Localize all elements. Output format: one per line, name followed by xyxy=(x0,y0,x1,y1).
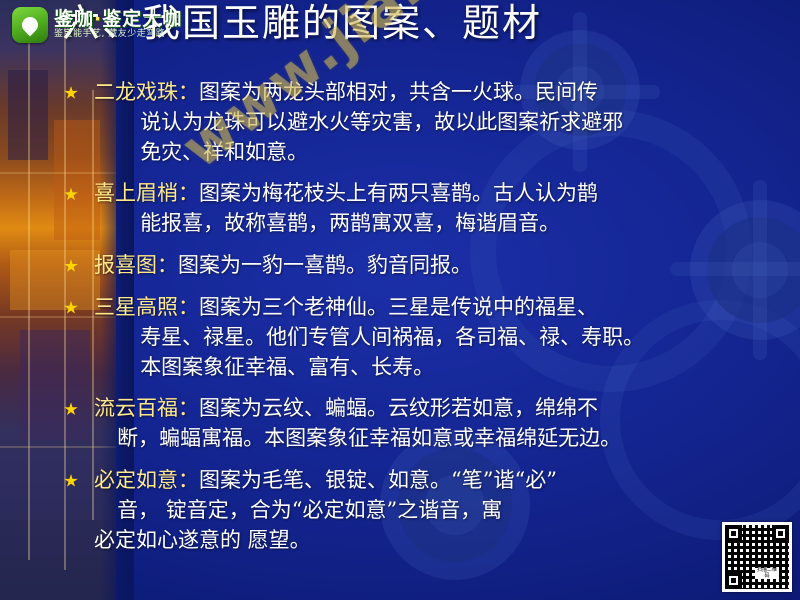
list-item-text: 图案为云纹、蝙蝠。云纹形若如意，绵绵不 xyxy=(199,396,598,420)
list-item-line: 断，蝙蝠寓福。本图案象征幸福如意或幸福绵延无边。 xyxy=(94,424,770,454)
logo-title-part2: 鉴定大咖 xyxy=(102,8,182,30)
list-item-line: 免灾、祥和如意。 xyxy=(94,138,770,168)
leaf-badge-icon xyxy=(12,7,48,43)
list-item-term: 二龙戏珠： xyxy=(94,80,199,104)
logo-subtitle: 鉴宝能手艺, 藏友少走弯路 xyxy=(54,30,182,39)
list-item: 二龙戏珠：图案为两龙头部相对，共含一火球。民间传 说认为龙珠可以避水火等灾害，故… xyxy=(60,78,770,167)
site-logo[interactable]: 鉴咖·鉴定大咖 鉴宝能手艺, 藏友少走弯路 xyxy=(12,6,262,44)
list-item-line: 必定如心遂意的 愿望。 xyxy=(94,526,770,556)
qr-code-image: 扫描二维码 xyxy=(725,525,789,589)
list-item-term: 报喜图： xyxy=(94,253,178,277)
list-item-line: 流云百福：图案为云纹、蝙蝠。云纹形若如意，绵绵不 xyxy=(94,394,770,424)
star-bullet-icon xyxy=(64,187,78,201)
list-item: 必定如意：图案为毛笔、银锭、如意。“笔”谐“必” 音， 锭音定，合为“必定如意”… xyxy=(60,466,770,555)
list-item-line: 二龙戏珠：图案为两龙头部相对，共含一火球。民间传 xyxy=(94,78,770,108)
star-bullet-icon xyxy=(64,301,78,315)
star-bullet-icon xyxy=(64,474,78,488)
logo-title-accent: · xyxy=(94,8,102,30)
list-item-text: 图案为梅花枝头上有两只喜鹊。古人认为鹊 xyxy=(199,181,598,205)
list-item-line: 报喜图：图案为一豹一喜鹊。豹音同报。 xyxy=(94,251,770,281)
leaf-glyph xyxy=(19,14,42,37)
list-item: 三星高照：图案为三个老神仙。三星是传说中的福星、 寿星、禄星。他们专管人间祸福，… xyxy=(60,293,770,382)
qr-eye xyxy=(725,525,742,542)
list-item-text: 图案为两龙头部相对，共含一火球。民间传 xyxy=(199,80,598,104)
list-item-text: 图案为一豹一喜鹊。豹音同报。 xyxy=(178,253,472,277)
list-item-line: 喜上眉梢：图案为梅花枝头上有两只喜鹊。古人认为鹊 xyxy=(94,179,770,209)
qr-code[interactable]: 扫描二维码 xyxy=(722,522,792,592)
logo-text-block: 鉴咖·鉴定大咖 鉴宝能手艺, 藏友少走弯路 xyxy=(54,10,182,39)
list-item-line: 能报喜，故称喜鹊，两鹊寓双喜，梅谐眉音。 xyxy=(94,209,770,239)
list-item-text: 图案为三个老神仙。三星是传说中的福星、 xyxy=(199,295,598,319)
logo-title: 鉴咖·鉴定大咖 xyxy=(54,10,182,30)
list-item-line: 本图案象征幸福、富有、长寿。 xyxy=(94,353,770,383)
list-item-line: 说认为龙珠可以避水火等灾害，故以此图案祈求避邪 xyxy=(94,108,770,138)
qr-eye xyxy=(772,525,789,542)
list-item-term: 必定如意： xyxy=(94,468,199,492)
star-bullet-icon xyxy=(64,402,78,416)
slide-canvas: 鉴咖·鉴定大咖 鉴宝能手艺, 藏友少走弯路 六、我国玉雕的图案、题材 二龙戏珠：… xyxy=(0,0,800,600)
list-item: 喜上眉梢：图案为梅花枝头上有两只喜鹊。古人认为鹊 能报喜，故称喜鹊，两鹊寓双喜，… xyxy=(60,179,770,239)
logo-title-part1: 鉴咖 xyxy=(54,8,94,30)
qr-caption: 扫描二维码 xyxy=(755,568,779,579)
list-item-term: 三星高照： xyxy=(94,295,199,319)
list-item-term: 流云百福： xyxy=(94,396,199,420)
slide-body: 二龙戏珠：图案为两龙头部相对，共含一火球。民间传 说认为龙珠可以避水火等灾害，故… xyxy=(60,78,770,567)
star-bullet-icon xyxy=(64,259,78,273)
qr-eye xyxy=(725,572,742,589)
list-item-line: 寿星、禄星。他们专管人间祸福，各司福、禄、寿职。 xyxy=(94,323,770,353)
list-item-line: 音， 锭音定，合为“必定如意”之谐音，寓 xyxy=(94,496,770,526)
list-item: 报喜图：图案为一豹一喜鹊。豹音同报。 xyxy=(60,251,770,281)
list-item-text: 图案为毛笔、银锭、如意。“笔”谐“必” xyxy=(199,468,557,492)
list-item-line: 必定如意：图案为毛笔、银锭、如意。“笔”谐“必” xyxy=(94,466,770,496)
star-bullet-icon xyxy=(64,86,78,100)
list-item: 流云百福：图案为云纹、蝙蝠。云纹形若如意，绵绵不 断，蝙蝠寓福。本图案象征幸福如… xyxy=(60,394,770,454)
list-item-line: 三星高照：图案为三个老神仙。三星是传说中的福星、 xyxy=(94,293,770,323)
list-item-term: 喜上眉梢： xyxy=(94,181,199,205)
